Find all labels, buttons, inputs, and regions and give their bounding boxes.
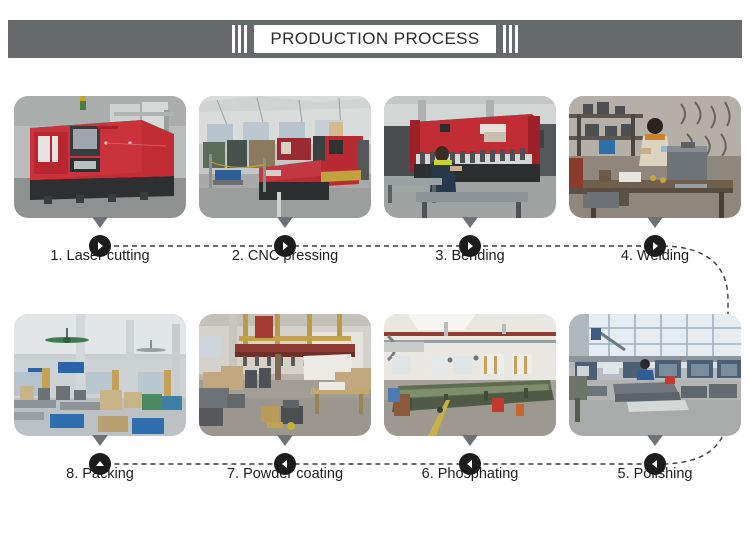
- step-card-6[interactable]: 6. Phosphating: [384, 314, 556, 436]
- flow-node-3-chevron-right-icon[interactable]: [459, 235, 481, 257]
- step-image-8: [14, 314, 186, 436]
- step-image-5: [569, 314, 741, 436]
- photo-packing-hall: [14, 314, 186, 436]
- step-card-4[interactable]: 4. Welding: [569, 96, 741, 218]
- powder-coating-illustration: [199, 314, 371, 436]
- flow-node-5-chevron-left-icon[interactable]: [644, 453, 666, 475]
- step-image-4: [569, 96, 741, 218]
- step-card-7[interactable]: 7. Powder coating: [199, 314, 371, 436]
- polishing-illustration: [569, 314, 741, 436]
- flow-node-8-chevron-up-icon[interactable]: [89, 453, 111, 475]
- card-tail: [647, 435, 663, 446]
- packing-illustration: [14, 314, 186, 436]
- step-image-3: [384, 96, 556, 218]
- flow-connector: [0, 0, 750, 534]
- stripes-right: [503, 25, 518, 53]
- stripe: [503, 25, 506, 53]
- card-tail: [277, 217, 293, 228]
- header-banner: PRODUCTION PROCESS: [8, 20, 742, 58]
- flow-node-6-chevron-left-icon[interactable]: [459, 453, 481, 475]
- card-tail: [462, 217, 478, 228]
- step-card-2[interactable]: 2. CNC pressing: [199, 96, 371, 218]
- bending-illustration: [384, 96, 556, 218]
- stripe: [515, 25, 518, 53]
- page-title: PRODUCTION PROCESS: [270, 29, 479, 49]
- stripe: [232, 25, 235, 53]
- stripe: [244, 25, 247, 53]
- step-card-3[interactable]: 3. Bending: [384, 96, 556, 218]
- photo-press-brake-bending: [384, 96, 556, 218]
- card-tail: [647, 217, 663, 228]
- step-image-6: [384, 314, 556, 436]
- photo-polishing-shop: [569, 314, 741, 436]
- stripes-left: [232, 25, 247, 53]
- photo-welding-bench: [569, 96, 741, 218]
- card-tail: [462, 435, 478, 446]
- card-tail: [277, 435, 293, 446]
- cnc-press-illustration: [199, 96, 371, 218]
- step-card-8[interactable]: 8. Packing: [14, 314, 186, 436]
- flow-node-7-chevron-left-icon[interactable]: [274, 453, 296, 475]
- flow-node-2-chevron-right-icon[interactable]: [274, 235, 296, 257]
- title-box: PRODUCTION PROCESS: [254, 25, 495, 53]
- stripe: [238, 25, 241, 53]
- photo-cnc-press-workshop: [199, 96, 371, 218]
- laser-cutting-illustration: [14, 96, 186, 218]
- card-tail: [92, 435, 108, 446]
- stripe: [509, 25, 512, 53]
- step-image-1: [14, 96, 186, 218]
- step-card-1[interactable]: 1. Laser cutting: [14, 96, 186, 218]
- flow-node-1-chevron-right-icon[interactable]: [89, 235, 111, 257]
- step-card-5[interactable]: 5. Polishing: [569, 314, 741, 436]
- photo-laser-cutting-machine: [14, 96, 186, 218]
- photo-powder-coating-line: [199, 314, 371, 436]
- welding-illustration: [569, 96, 741, 218]
- step-image-7: [199, 314, 371, 436]
- phosphating-illustration: [384, 314, 556, 436]
- card-tail: [92, 217, 108, 228]
- step-image-2: [199, 96, 371, 218]
- photo-phosphating-tanks: [384, 314, 556, 436]
- flow-node-4-chevron-right-icon[interactable]: [644, 235, 666, 257]
